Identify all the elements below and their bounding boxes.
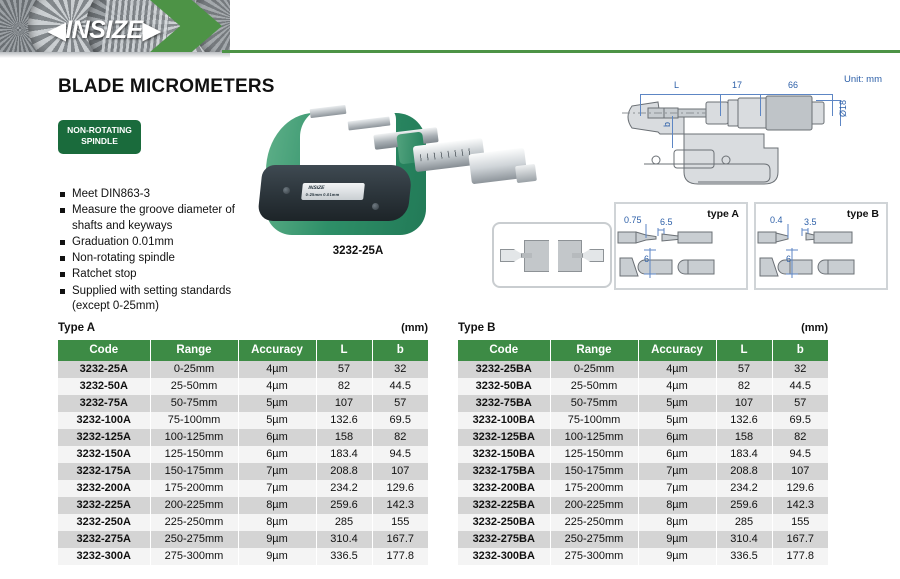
table-cell: 94.5 [372,446,428,463]
table-cell: 3232-25A [58,361,150,378]
table-cell: 3232-275A [58,531,150,548]
table-cell: 183.4 [716,446,772,463]
list-item: Measure the groove diameter of shafts an… [60,203,255,234]
type-b-table-section: Type B (mm) Code Range Accuracy L b 3232… [458,322,828,565]
table-cell: 175-200mm [150,480,238,497]
list-item: Ratchet stop [60,267,255,282]
page-title: BLADE MICROMETERS [58,76,275,98]
table-cell: 57 [716,361,772,378]
table-cell: 175-200mm [550,480,638,497]
table-cell: 50-75mm [550,395,638,412]
table-caption-text: Type A [58,322,95,334]
table-cell: 155 [772,514,828,531]
column-header-l: L [716,340,772,361]
table-cell: 5µm [238,395,316,412]
table-cell: 69.5 [772,412,828,429]
table-cell: 82 [372,429,428,446]
table-cell: 107 [772,463,828,480]
blade-tip-left [500,249,522,262]
table-cell: 0-25mm [550,361,638,378]
table-cell: 57 [316,361,372,378]
type-b-detail-box: type B 0.4 [754,202,888,290]
table-cell: 3232-125A [58,429,150,446]
table-cell: 44.5 [772,378,828,395]
type-b-table-body: 3232-25BA0-25mm4µm57323232-50BA25-50mm4µ… [458,361,828,565]
dim-label-66: 66 [788,80,798,90]
product-model-caption: 3232-25A [248,245,468,257]
table-row: 3232-125BA100-125mm6µm15882 [458,429,828,446]
type-b-table-caption: Type B (mm) [458,322,828,340]
table-cell: 310.4 [716,531,772,548]
table-cell: 3232-75A [58,395,150,412]
table-row: 3232-100BA75-100mm5µm132.669.5 [458,412,828,429]
table-row: 3232-25A0-25mm4µm5732 [58,361,428,378]
table-cell: 32 [372,361,428,378]
table-row: 3232-300A275-300mm9µm336.5177.8 [58,548,428,565]
table-cell: 44.5 [372,378,428,395]
table-cell: 8µm [638,497,716,514]
table-cell: 275-300mm [550,548,638,565]
table-cell: 125-150mm [550,446,638,463]
table-cell: 7µm [638,480,716,497]
table-row: 3232-225BA200-225mm8µm259.6142.3 [458,497,828,514]
column-header-l: L [316,340,372,361]
table-cell: 32 [772,361,828,378]
table-cell: 150-175mm [550,463,638,480]
table-cell: 250-275mm [550,531,638,548]
table-cell: 4µm [638,361,716,378]
table-cell: 6µm [238,446,316,463]
table-cell: 3232-150BA [458,446,550,463]
column-header-accuracy: Accuracy [238,340,316,361]
catalog-page: ◀INSIZE▶ BLADE MICROMETERS NON-ROTATING … [0,0,900,579]
table-cell: 82 [316,378,372,395]
table-cell: 9µm [238,548,316,565]
type-a-label: type A [707,208,739,220]
table-cell: 8µm [238,514,316,531]
table-cell: 107 [316,395,372,412]
table-cell: 107 [716,395,772,412]
table-cell: 208.8 [716,463,772,480]
table-cell: 3232-50BA [458,378,550,395]
table-cell: 183.4 [316,446,372,463]
dim-line-L [640,94,720,95]
table-cell: 225-250mm [550,514,638,531]
non-rotating-spindle-badge: NON-ROTATING SPINDLE [58,120,141,154]
table-cell: 285 [716,514,772,531]
table-row: 3232-175BA150-175mm7µm208.8107 [458,463,828,480]
table-cell: 234.2 [716,480,772,497]
table-cell: 142.3 [372,497,428,514]
frame-screw-icon [372,203,379,210]
table-cell: 3232-275BA [458,531,550,548]
table-cell: 94.5 [772,446,828,463]
table-cell: 7µm [238,463,316,480]
table-cell: 9µm [638,548,716,565]
logo-right-arrow-icon: ▶ [143,17,160,43]
table-cell: 3232-75BA [458,395,550,412]
dim-tick [760,94,761,116]
table-cell: 82 [716,378,772,395]
table-row: 3232-125A100-125mm6µm15882 [58,429,428,446]
table-row: 3232-300BA275-300mm9µm336.5177.8 [458,548,828,565]
list-item: Supplied with setting standards (except … [60,284,255,315]
table-cell: 8µm [638,514,716,531]
column-header-code: Code [458,340,550,361]
table-cell: 177.8 [372,548,428,565]
table-cell: 3232-200A [58,480,150,497]
table-cell: 132.6 [316,412,372,429]
table-cell: 3232-250A [58,514,150,531]
table-cell: 125-150mm [150,446,238,463]
application-diagram [492,222,612,288]
table-cell: 69.5 [372,412,428,429]
table-row: 3232-225A200-225mm8µm259.6142.3 [58,497,428,514]
table-cell: 100-125mm [550,429,638,446]
table-cell: 3232-150A [58,446,150,463]
nameplate-spec: 0-25mm 0.01mm [305,192,339,197]
table-cell: 3232-25BA [458,361,550,378]
dim-tick [720,94,721,116]
table-row: 3232-25BA0-25mm4µm5732 [458,361,828,378]
table-cell: 8µm [238,497,316,514]
table-row: 3232-100A75-100mm5µm132.669.5 [58,412,428,429]
type-b-table: Code Range Accuracy L b 3232-25BA0-25mm4… [458,340,828,565]
table-cell: 3232-200BA [458,480,550,497]
table-cell: 9µm [638,531,716,548]
header-divider [222,50,900,53]
dim-label-L: L [674,80,679,90]
table-cell: 3232-50A [58,378,150,395]
table-cell: 57 [772,395,828,412]
table-cell: 250-275mm [150,531,238,548]
table-cell: 0-25mm [150,361,238,378]
table-cell: 4µm [638,378,716,395]
badge-line-1: NON-ROTATING [58,125,141,136]
table-cell: 9µm [238,531,316,548]
table-row: 3232-150BA125-150mm6µm183.494.5 [458,446,828,463]
dim-label-diameter: Ø18 [838,100,848,117]
type-a-dim-1: 0.75 [624,215,642,225]
table-cell: 3232-225BA [458,497,550,514]
dim-tick [640,94,641,116]
list-item: Meet DIN863-3 [60,187,255,202]
table-row: 3232-250BA225-250mm8µm285155 [458,514,828,531]
table-cell: 5µm [638,395,716,412]
table-unit-label: (mm) [401,322,428,334]
table-row: 3232-75A50-75mm5µm10757 [58,395,428,412]
table-cell: 3232-250BA [458,514,550,531]
table-row: 3232-50A25-50mm4µm8244.5 [58,378,428,395]
table-cell: 3232-125BA [458,429,550,446]
type-a-dim-3: 6 [644,254,649,264]
table-cell: 167.7 [772,531,828,548]
table-cell: 4µm [238,378,316,395]
product-name-plate: INSIZE 0-25mm 0.01mm [301,183,365,200]
type-b-dim-2: 3.5 [804,217,817,227]
blade-tip-right [582,249,604,262]
table-cell: 107 [372,463,428,480]
table-cell: 259.6 [316,497,372,514]
dim-label-b: b [662,122,672,127]
table-row: 3232-200BA175-200mm7µm234.2129.6 [458,480,828,497]
micrometer-outline-svg [614,72,900,192]
table-cell: 6µm [638,429,716,446]
table-header-row: Code Range Accuracy L b [58,340,428,361]
table-cell: 25-50mm [550,378,638,395]
badge-line-2: SPINDLE [58,136,141,147]
table-row: 3232-275A250-275mm9µm310.4167.7 [58,531,428,548]
table-cell: 82 [772,429,828,446]
table-row: 3232-75BA50-75mm5µm10757 [458,395,828,412]
header-shadow [0,52,230,58]
table-cell: 129.6 [372,480,428,497]
table-cell: 167.7 [372,531,428,548]
column-header-accuracy: Accuracy [638,340,716,361]
table-row: 3232-175A150-175mm7µm208.8107 [58,463,428,480]
table-cell: 75-100mm [150,412,238,429]
type-b-dim-3: 6 [786,254,791,264]
table-cell: 100-125mm [150,429,238,446]
table-row: 3232-250A225-250mm8µm285155 [58,514,428,531]
frame-screw-icon [283,187,290,194]
table-cell: 6µm [638,446,716,463]
list-item: Non-rotating spindle [60,251,255,266]
table-cell: 225-250mm [150,514,238,531]
page-header: ◀INSIZE▶ [0,0,900,58]
table-cell: 3232-225A [58,497,150,514]
column-header-code: Code [58,340,150,361]
table-cell: 275-300mm [150,548,238,565]
table-row: 3232-150A125-150mm6µm183.494.5 [58,446,428,463]
logo-left-arrow-icon: ◀ [48,17,65,43]
table-cell: 3232-300BA [458,548,550,565]
table-cell: 129.6 [772,480,828,497]
table-header-row: Code Range Accuracy L b [458,340,828,361]
table-cell: 5µm [238,412,316,429]
table-caption-text: Type B [458,322,496,334]
type-a-table-body: 3232-25A0-25mm4µm57323232-50A25-50mm4µm8… [58,361,428,565]
list-item: Graduation 0.01mm [60,235,255,250]
table-cell: 25-50mm [150,378,238,395]
table-cell: 3232-175BA [458,463,550,480]
table-cell: 3232-175A [58,463,150,480]
table-cell: 336.5 [316,548,372,565]
type-a-detail-box: type A 0.75 [614,202,748,290]
table-row: 3232-200A175-200mm7µm234.2129.6 [58,480,428,497]
table-cell: 200-225mm [550,497,638,514]
table-cell: 6µm [238,429,316,446]
dim-label-17: 17 [732,80,742,90]
table-cell: 158 [716,429,772,446]
ratchet-stop [515,164,537,183]
table-cell: 4µm [238,361,316,378]
dim-tick [832,94,833,116]
table-unit-label: (mm) [801,322,828,334]
table-cell: 142.3 [772,497,828,514]
table-cell: 7µm [638,463,716,480]
nameplate-brand: INSIZE [308,185,325,191]
table-cell: 3232-100BA [458,412,550,429]
table-cell: 57 [372,395,428,412]
column-header-range: Range [550,340,638,361]
table-cell: 7µm [238,480,316,497]
table-cell: 234.2 [316,480,372,497]
table-cell: 259.6 [716,497,772,514]
type-a-dim-2: 6.5 [660,217,673,227]
table-cell: 208.8 [316,463,372,480]
table-cell: 3232-100A [58,412,150,429]
table-cell: 200-225mm [150,497,238,514]
table-cell: 336.5 [716,548,772,565]
column-header-b: b [772,340,828,361]
feature-list: Meet DIN863-3 Measure the groove diamete… [60,187,255,315]
table-cell: 177.8 [772,548,828,565]
column-header-range: Range [150,340,238,361]
table-cell: 310.4 [316,531,372,548]
dim-tick [672,116,673,148]
table-cell: 132.6 [716,412,772,429]
table-cell: 75-100mm [550,412,638,429]
table-cell: 5µm [638,412,716,429]
shaft-groove [549,240,558,272]
dim-line-diameter [816,100,840,101]
dim-line-17 [720,94,760,95]
dim-line-66 [760,94,832,95]
column-header-b: b [372,340,428,361]
table-row: 3232-50BA25-50mm4µm8244.5 [458,378,828,395]
type-a-table-caption: Type A (mm) [58,322,428,340]
type-a-table-section: Type A (mm) Code Range Accuracy L b 3232… [58,322,428,565]
table-cell: 3232-300A [58,548,150,565]
insize-logo: ◀INSIZE▶ [48,16,160,45]
type-b-label: type B [847,208,879,220]
type-b-dim-1: 0.4 [770,215,783,225]
table-cell: 158 [316,429,372,446]
table-cell: 50-75mm [150,395,238,412]
type-a-table: Code Range Accuracy L b 3232-25A0-25mm4µ… [58,340,428,565]
logo-text: INSIZE [65,16,143,44]
dimension-drawing: Unit: mm [614,72,900,192]
table-row: 3232-275BA250-275mm9µm310.4167.7 [458,531,828,548]
table-cell: 150-175mm [150,463,238,480]
table-cell: 155 [372,514,428,531]
table-cell: 285 [316,514,372,531]
